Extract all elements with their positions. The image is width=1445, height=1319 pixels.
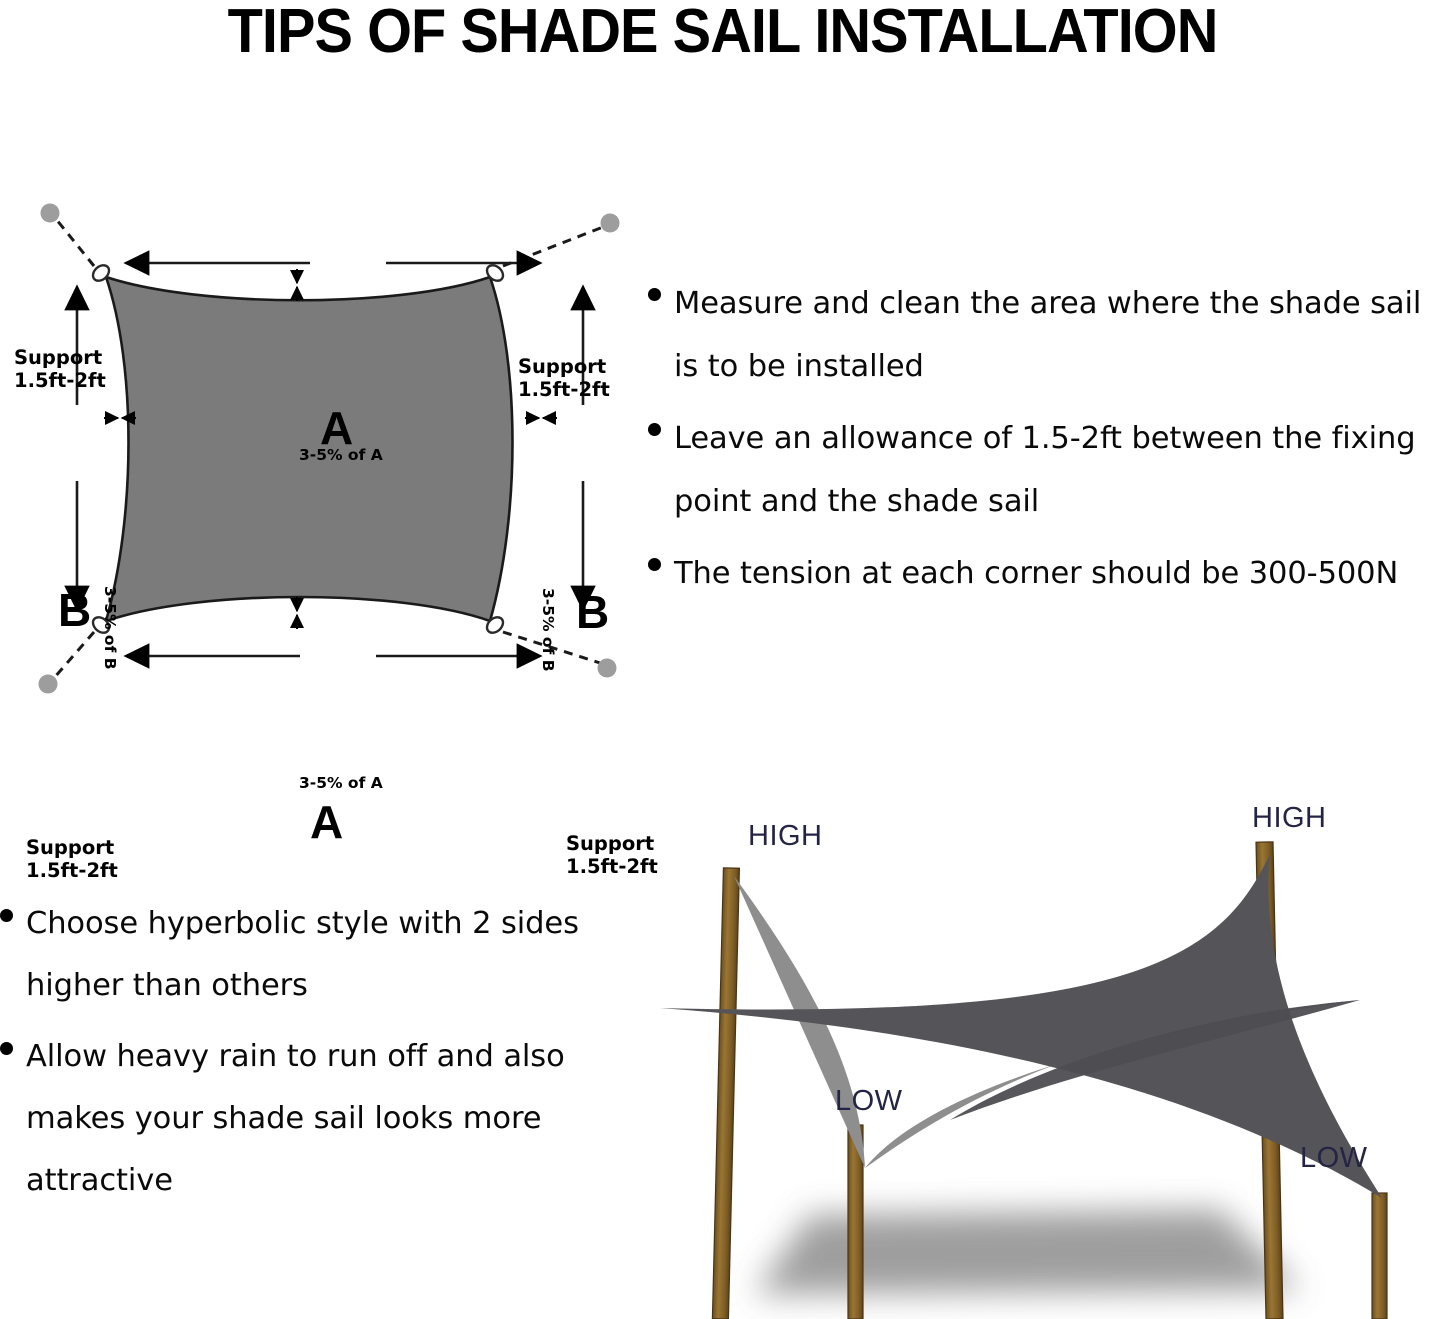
bullet-icon [648, 423, 661, 436]
tip-text: Leave an allowance of 1.5-2ft between th… [674, 407, 1445, 533]
support-label-top-right: Support 1.5ft-2ft [518, 355, 610, 401]
label-high-right: HIGH [1252, 802, 1327, 835]
rectangular-sail-diagram: Support 1.5ft-2ft Support 1.5ft-2ft Supp… [0, 165, 660, 725]
dimension-letter-a-top: A [320, 405, 353, 451]
tip-text: Choose hyperbolic style with 2 sides hig… [26, 893, 625, 1017]
support-label-line1: Support [566, 832, 658, 855]
sag-label-b-left: 3-5% of B [101, 586, 119, 670]
infographic-page: TIPS OF SHADE SAIL INSTALLATION [0, 0, 1445, 1319]
support-label-line2: 1.5ft-2ft [518, 378, 610, 401]
bullet-icon [0, 909, 13, 922]
bullet-icon [0, 1042, 13, 1055]
support-label-line1: Support [14, 346, 106, 369]
sag-label-b-right: 3-5% of B [539, 588, 557, 672]
support-dot-bottom-left [39, 675, 58, 694]
label-high-left: HIGH [748, 820, 823, 853]
support-label-line1: Support [26, 836, 118, 859]
list-item: Choose hyperbolic style with 2 sides hig… [0, 893, 625, 1017]
label-low-right: LOW [1300, 1142, 1368, 1175]
support-label-line2: 1.5ft-2ft [26, 859, 118, 882]
support-label-line1: Support [518, 355, 610, 378]
tips-list-right: Measure and clean the area where the sha… [648, 272, 1445, 614]
tip-text: Allow heavy rain to run off and also mak… [26, 1026, 625, 1212]
support-label-line2: 1.5ft-2ft [566, 855, 658, 878]
bullet-icon [648, 288, 661, 301]
support-dot-bottom-right [598, 659, 617, 678]
dimension-letter-b-right: B [576, 589, 609, 635]
post-high-left [712, 868, 739, 1319]
page-title: TIPS OF SHADE SAIL INSTALLATION [51, 0, 1395, 67]
tip-text: The tension at each corner should be 300… [674, 542, 1398, 605]
dimension-letter-a-bottom: A [310, 799, 343, 845]
list-item: The tension at each corner should be 300… [648, 542, 1445, 605]
post-low-right [1372, 1193, 1387, 1319]
support-label-line2: 1.5ft-2ft [14, 369, 106, 392]
sag-label-a-top: 3-5% of A [299, 446, 383, 464]
support-dot-top-right [601, 214, 620, 233]
support-label-top-left: Support 1.5ft-2ft [14, 346, 106, 392]
bullet-icon [648, 558, 661, 571]
hyperbolic-sail-diagram: HIGH HIGH LOW LOW [660, 770, 1445, 1319]
list-item: Allow heavy rain to run off and also mak… [0, 1026, 625, 1212]
sag-label-a-bottom: 3-5% of A [299, 774, 383, 792]
ground-shadow [755, 1210, 1300, 1294]
tip-text: Measure and clean the area where the sha… [674, 272, 1445, 398]
tips-list-bottom-left: Choose hyperbolic style with 2 sides hig… [0, 893, 625, 1221]
dimension-letter-b-left: B [58, 587, 91, 633]
support-dot-top-left [41, 204, 60, 223]
support-label-bottom-right: Support 1.5ft-2ft [566, 832, 658, 878]
label-low-left: LOW [835, 1085, 903, 1118]
list-item: Measure and clean the area where the sha… [648, 272, 1445, 398]
support-label-bottom-left: Support 1.5ft-2ft [26, 836, 118, 882]
list-item: Leave an allowance of 1.5-2ft between th… [648, 407, 1445, 533]
